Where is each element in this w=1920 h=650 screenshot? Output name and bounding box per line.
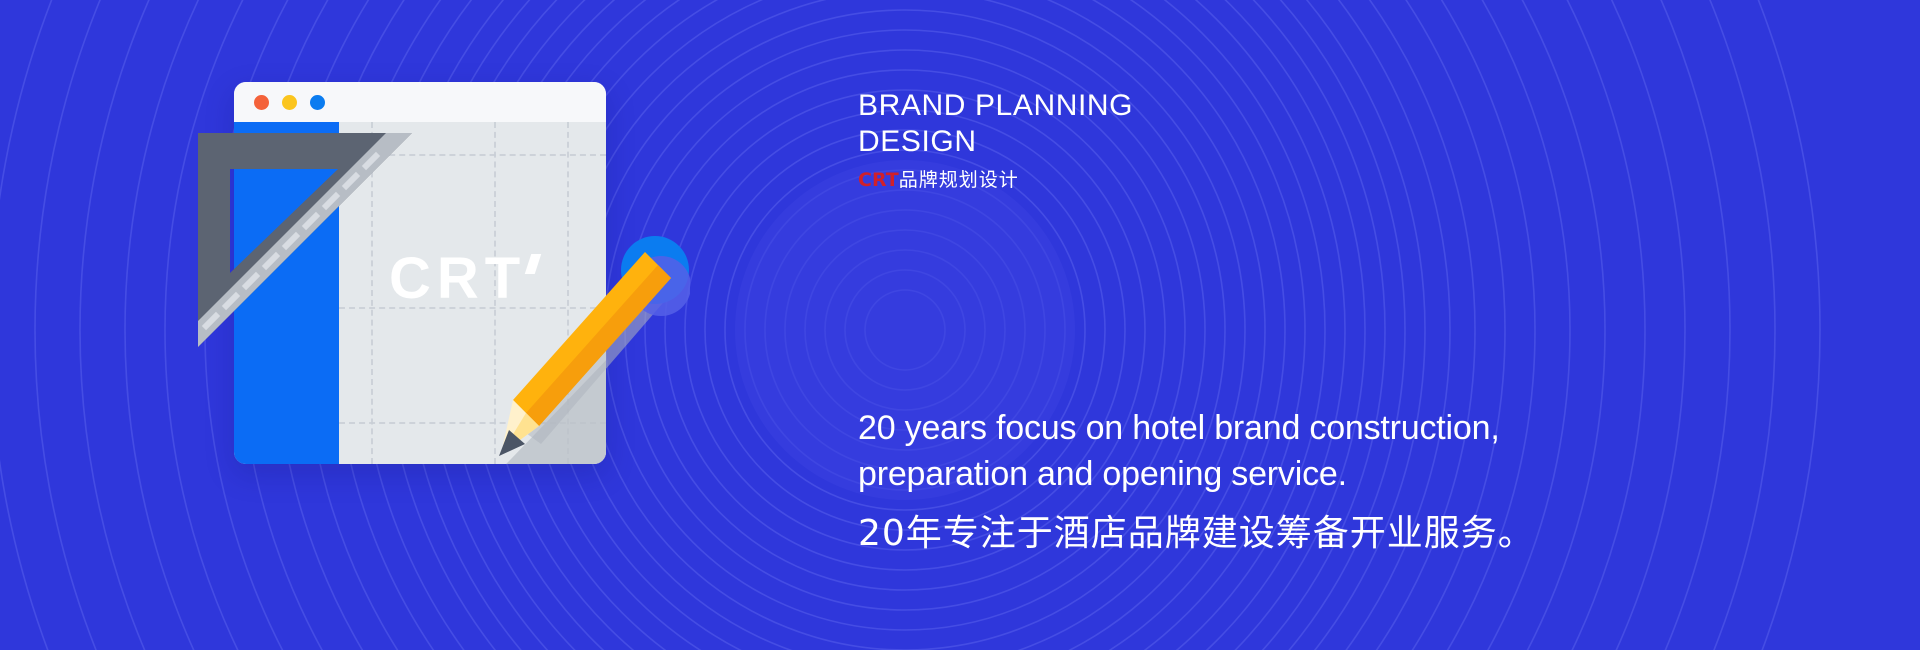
headline-english: BRAND PLANNING DESIGN [858,88,1758,160]
headline-chinese-row: CRT品牌规划设计 [858,168,1758,192]
tagline-english: 20 years focus on hotel brand constructi… [858,405,1818,497]
brand-banner: CRT [0,0,1920,650]
headline-block: BRAND PLANNING DESIGN CRT品牌规划设计 [858,88,1758,192]
triangular-ruler [190,125,420,375]
headline-chinese: 品牌规划设计 [899,169,1019,191]
hero-illustration: CRT [190,60,690,500]
close-dot-icon [254,95,269,110]
pencil [475,230,690,490]
tagline-block: 20 years focus on hotel brand constructi… [858,405,1818,557]
tagline-chinese: 20年专注于酒店品牌建设筹备开业服务。 [858,511,1818,557]
maximize-dot-icon [310,95,325,110]
minimize-dot-icon [282,95,297,110]
brand-name-crt: CRT [858,169,899,191]
browser-title-bar [234,82,606,122]
